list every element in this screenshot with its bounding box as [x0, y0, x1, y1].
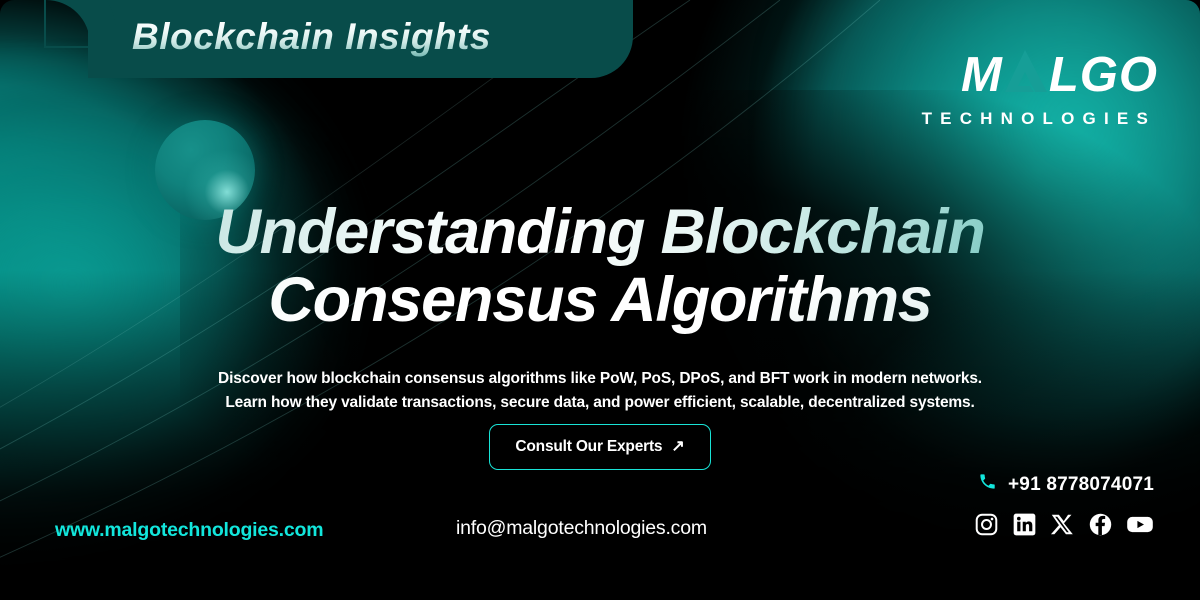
x-twitter-icon[interactable] — [1050, 512, 1075, 537]
consult-our-experts-button[interactable]: Consult Our Experts ↗ — [489, 424, 710, 470]
phone-icon — [978, 472, 997, 497]
social-links — [974, 512, 1154, 537]
linkedin-icon[interactable] — [1012, 512, 1037, 537]
headline-block: Understanding Blockchain Consensus Algor… — [0, 198, 1200, 334]
ribbon-title: Blockchain Insights — [132, 16, 491, 58]
email-address[interactable]: info@malgotechnologies.com — [456, 517, 707, 540]
website-link[interactable]: www.malgotechnologies.com — [55, 519, 323, 542]
logo-tagline: TECHNOLOGIES — [922, 110, 1158, 127]
logo-letters-lgo: LGO — [1049, 51, 1158, 100]
subtitle-line-2: Learn how they validate transactions, se… — [0, 391, 1200, 415]
promo-banner: Blockchain Insights M LGO TECHNOLOGIES U… — [0, 0, 1200, 600]
headline-line-1: Understanding Blockchain — [0, 198, 1200, 266]
subtitle-line-1: Discover how blockchain consensus algori… — [0, 367, 1200, 391]
logo-wordmark: M LGO — [922, 48, 1158, 103]
subtitle-block: Discover how blockchain consensus algori… — [0, 367, 1200, 415]
headline-line-2: Consensus Algorithms — [0, 266, 1200, 334]
phone-block[interactable]: +91 8778074071 — [978, 472, 1154, 497]
cta-container: Consult Our Experts ↗ — [0, 424, 1200, 470]
facebook-icon[interactable] — [1088, 512, 1113, 537]
arrow-up-right-icon: ↗ — [671, 439, 684, 455]
brand-logo: M LGO TECHNOLOGIES — [922, 48, 1158, 127]
cta-label: Consult Our Experts — [515, 438, 662, 456]
logo-letter-m: M — [961, 51, 1003, 100]
youtube-icon[interactable] — [1126, 512, 1154, 537]
instagram-icon[interactable] — [974, 512, 999, 537]
phone-number: +91 8778074071 — [1008, 474, 1154, 496]
logo-letter-a-icon — [1004, 48, 1048, 103]
